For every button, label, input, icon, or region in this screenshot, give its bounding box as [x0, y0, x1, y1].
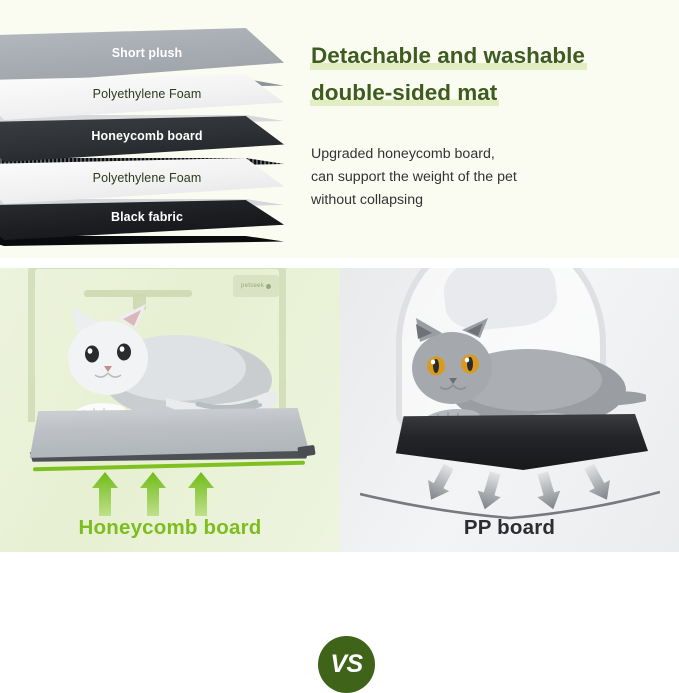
vs-badge-label: VS [330, 650, 362, 679]
support-arrow-up-3 [188, 472, 214, 516]
body-copy-line-2: can support the weight of the pet [311, 166, 651, 189]
brand-logo-badge: petseek [233, 275, 279, 297]
body-copy: Upgraded honeycomb board, can support th… [311, 143, 651, 212]
layer-stack-diagram: Short plush Polyethylene Foam Honeycomb … [0, 28, 296, 238]
honeycomb-support-line [33, 461, 305, 472]
pp-board-mat-top [388, 414, 648, 470]
layer-polyethylene-foam-top: Polyethylene Foam [0, 74, 284, 120]
top-section: Short plush Polyethylene Foam Honeycomb … [0, 0, 679, 258]
layer-short-plush-label: Short plush [112, 46, 183, 60]
body-copy-line-3: without collapsing [311, 189, 651, 212]
headline-line-1: Detachable and washable [310, 44, 587, 70]
zipper-pull-icon [297, 445, 315, 457]
comparison-panel-pp-board: PP board [340, 268, 679, 552]
headline-line-2: double-sided mat [310, 81, 499, 107]
layer-black-fabric: Black fabric [0, 200, 284, 240]
support-arrow-up-1 [92, 472, 118, 516]
layer-polyethylene-foam-top-label: Polyethylene Foam [93, 87, 202, 101]
vs-badge: VS [318, 636, 375, 693]
layer-honeycomb-board-label: Honeycomb board [91, 129, 202, 143]
label-honeycomb-board: Honeycomb board [0, 516, 340, 540]
honeycomb-mat [24, 408, 309, 460]
brand-logo-text: petseek [241, 283, 264, 289]
silver-tabby-cat [48, 302, 278, 424]
pp-board-mat [388, 414, 648, 470]
layer-honeycomb-board: Honeycomb board [0, 116, 284, 162]
layer-polyethylene-foam-bottom: Polyethylene Foam [0, 158, 284, 204]
comparison-section: petseek [0, 268, 679, 552]
headline-block: Detachable and washable double-sided mat [310, 44, 670, 106]
layer-black-fabric-label: Black fabric [111, 210, 183, 224]
comparison-panel-honeycomb: petseek [0, 268, 340, 552]
label-pp-board: PP board [340, 516, 679, 540]
brand-logo-dot-icon [266, 284, 271, 289]
layer-polyethylene-foam-bottom-label: Polyethylene Foam [93, 171, 202, 185]
body-copy-line-1: Upgraded honeycomb board, [311, 143, 651, 166]
support-arrow-up-2 [140, 472, 166, 516]
